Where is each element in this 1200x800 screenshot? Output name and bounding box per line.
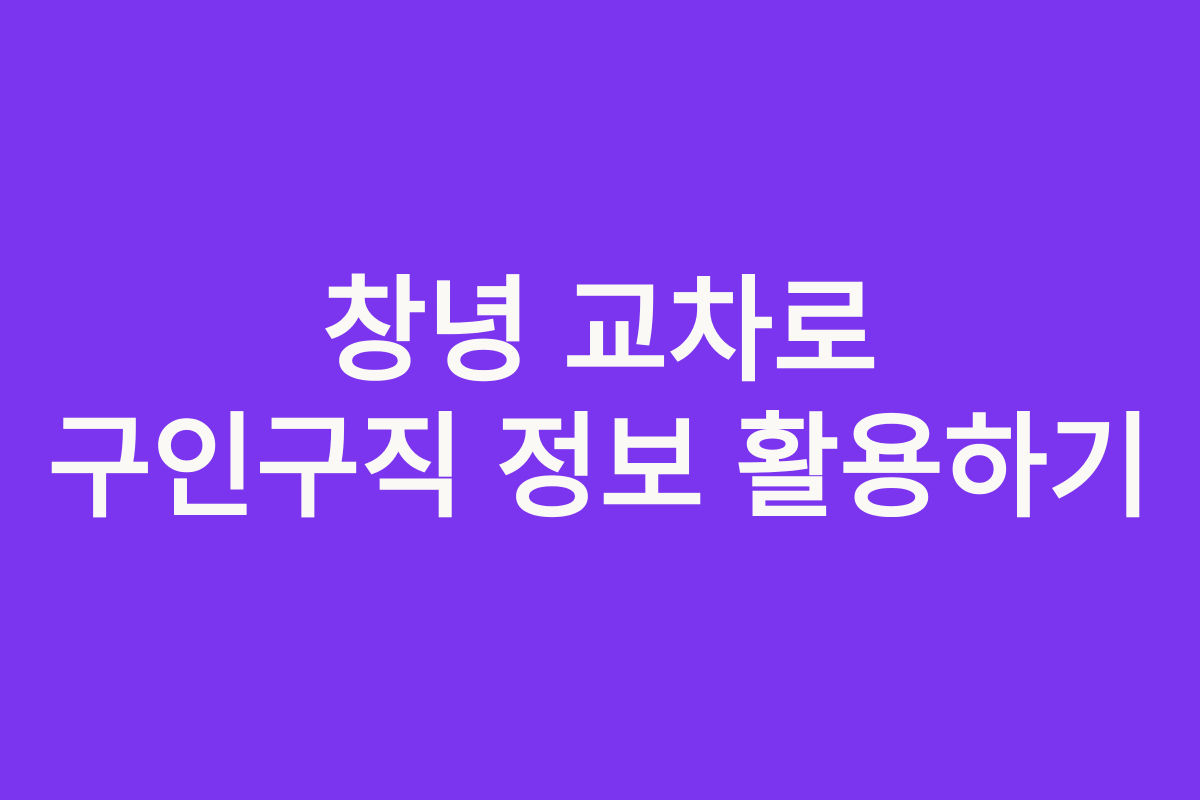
promo-banner: 창녕 교차로 구인구직 정보 활용하기 bbox=[0, 0, 1200, 800]
headline-line-2: 구인구직 정보 활용하기 bbox=[48, 409, 1152, 528]
headline-block: 창녕 교차로 구인구직 정보 활용하기 bbox=[0, 267, 1200, 533]
headline-line-1: 창녕 교차로 bbox=[322, 272, 878, 392]
